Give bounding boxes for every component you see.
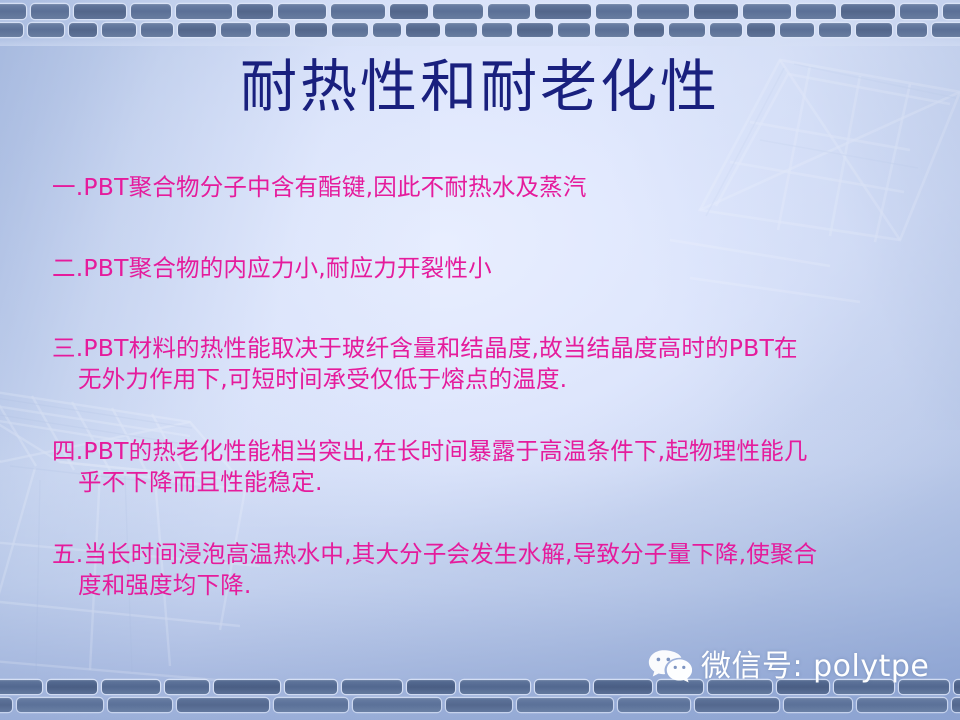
list-item-line: 乎不下降而且性能稳定. — [52, 467, 920, 498]
list-item: 一.PBT聚合物分子中含有酯键,因此不耐热水及蒸汽 — [52, 172, 920, 203]
list-item: 三.PBT材料的热性能取决于玻纤含量和结晶度,故当结晶度高时的PBT在 无外力作… — [52, 333, 920, 394]
slide-canvas: 耐热性和耐老化性 一.PBT聚合物分子中含有酯键,因此不耐热水及蒸汽 二.PBT… — [0, 0, 960, 720]
page-title: 耐热性和耐老化性 — [0, 58, 960, 118]
wechat-watermark: 微信号: polytpe — [648, 648, 929, 686]
list-item: 四.PBT的热老化性能相当突出,在长时间暴露于高温条件下,起物理性能几 乎不下降… — [52, 436, 920, 497]
list-item: 二.PBT聚合物的内应力小,耐应力开裂性小 — [52, 253, 920, 284]
list-item-line: 三.PBT材料的热性能取决于玻纤含量和结晶度,故当结晶度高时的PBT在 — [52, 333, 920, 364]
spacer — [52, 497, 920, 539]
spacer — [52, 394, 920, 436]
list-item: 五.当长时间浸泡高温热水中,其大分子会发生水解,导致分子量下降,使聚合 度和强度… — [52, 539, 920, 600]
wechat-icon — [648, 648, 692, 686]
spacer — [52, 203, 920, 253]
list-item-line: 一.PBT聚合物分子中含有酯键,因此不耐热水及蒸汽 — [52, 172, 920, 203]
spacer — [52, 283, 920, 333]
list-item-line: 度和强度均下降. — [52, 570, 920, 601]
wechat-id-label: 微信号: polytpe — [701, 652, 929, 682]
list-item-line: 二.PBT聚合物的内应力小,耐应力开裂性小 — [52, 253, 920, 284]
list-item-line: 五.当长时间浸泡高温热水中,其大分子会发生水解,导致分子量下降,使聚合 — [52, 539, 920, 570]
list-item-line: 无外力作用下,可短时间承受仅低于熔点的温度. — [52, 364, 920, 395]
list-item-line: 四.PBT的热老化性能相当突出,在长时间暴露于高温条件下,起物理性能几 — [52, 436, 920, 467]
body-content-list: 一.PBT聚合物分子中含有酯键,因此不耐热水及蒸汽 二.PBT聚合物的内应力小,… — [52, 172, 920, 600]
